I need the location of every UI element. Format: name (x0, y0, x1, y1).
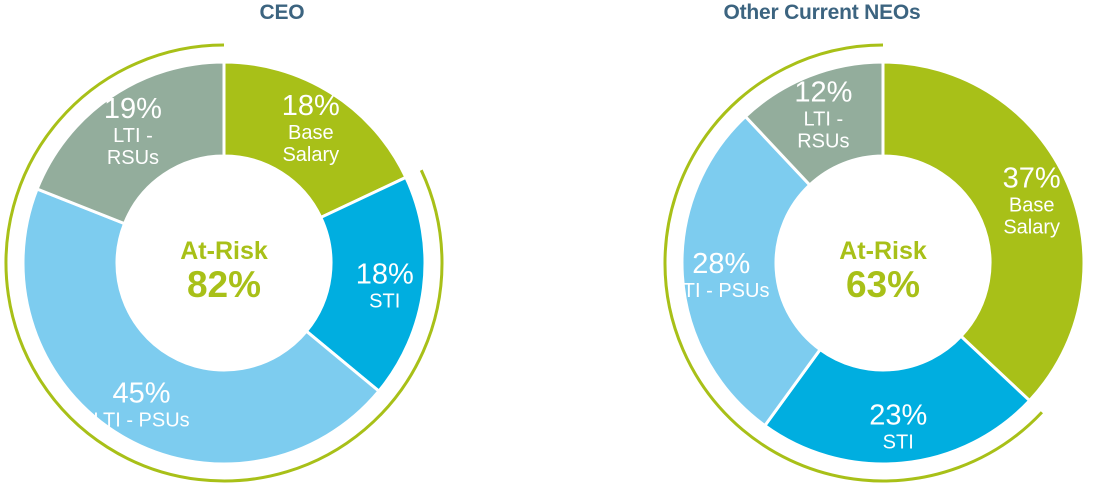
segment-value-lti-psus: 28% (692, 248, 750, 280)
segment-value-lti-psus: 45% (113, 377, 171, 409)
segment-label-lti-rsus: LTI - (804, 108, 844, 130)
at-risk-value: 63% (846, 264, 920, 305)
segment-value-lti-rsus: 19% (104, 93, 162, 125)
segment-value-sti: 23% (869, 399, 927, 431)
segment-label-lti-rsus: LTI - (113, 125, 153, 147)
chart-panel-neo: Other Current NEOs 37%BaseSalary23%STI28… (548, 0, 1096, 488)
segment-label-lti-rsus: RSUs (107, 147, 159, 169)
segment-label-sti: STI (369, 290, 400, 312)
segment-label-sti: STI (883, 431, 914, 453)
donut-center-hub: At-Risk63% (777, 157, 989, 369)
at-risk-value: 82% (187, 264, 261, 305)
segment-label-base-salary: Base (288, 122, 334, 144)
donut-chart-ceo: 18%BaseSalary18%STI45%LTI - PSUs19%LTI -… (0, 0, 548, 488)
donut-center-hub: At-Risk82% (118, 157, 330, 369)
segment-label-lti-rsus: RSUs (797, 130, 849, 152)
at-risk-caption: At-Risk (180, 237, 268, 265)
segment-label-lti-psus: LTI - PSUs (673, 280, 769, 302)
segment-label-base-salary: Base (1009, 195, 1055, 217)
chart-panel-ceo: CEO 18%BaseSalary18%STI45%LTI - PSUs19%L… (0, 0, 548, 488)
compensation-mix-figure: CEO 18%BaseSalary18%STI45%LTI - PSUs19%L… (0, 0, 1096, 488)
at-risk-caption: At-Risk (839, 237, 927, 265)
segment-label-lti-psus: LTI - PSUs (93, 409, 189, 431)
donut-chart-neo: 37%BaseSalary23%STI28%LTI - PSUs12%LTI -… (548, 0, 1096, 488)
segment-value-lti-rsus: 12% (794, 76, 852, 108)
segment-value-sti: 18% (356, 258, 414, 290)
segment-value-base-salary: 18% (282, 90, 340, 122)
segment-value-base-salary: 37% (1003, 163, 1061, 195)
segment-label-base-salary: Salary (1003, 217, 1060, 239)
segment-label-base-salary: Salary (282, 144, 339, 166)
